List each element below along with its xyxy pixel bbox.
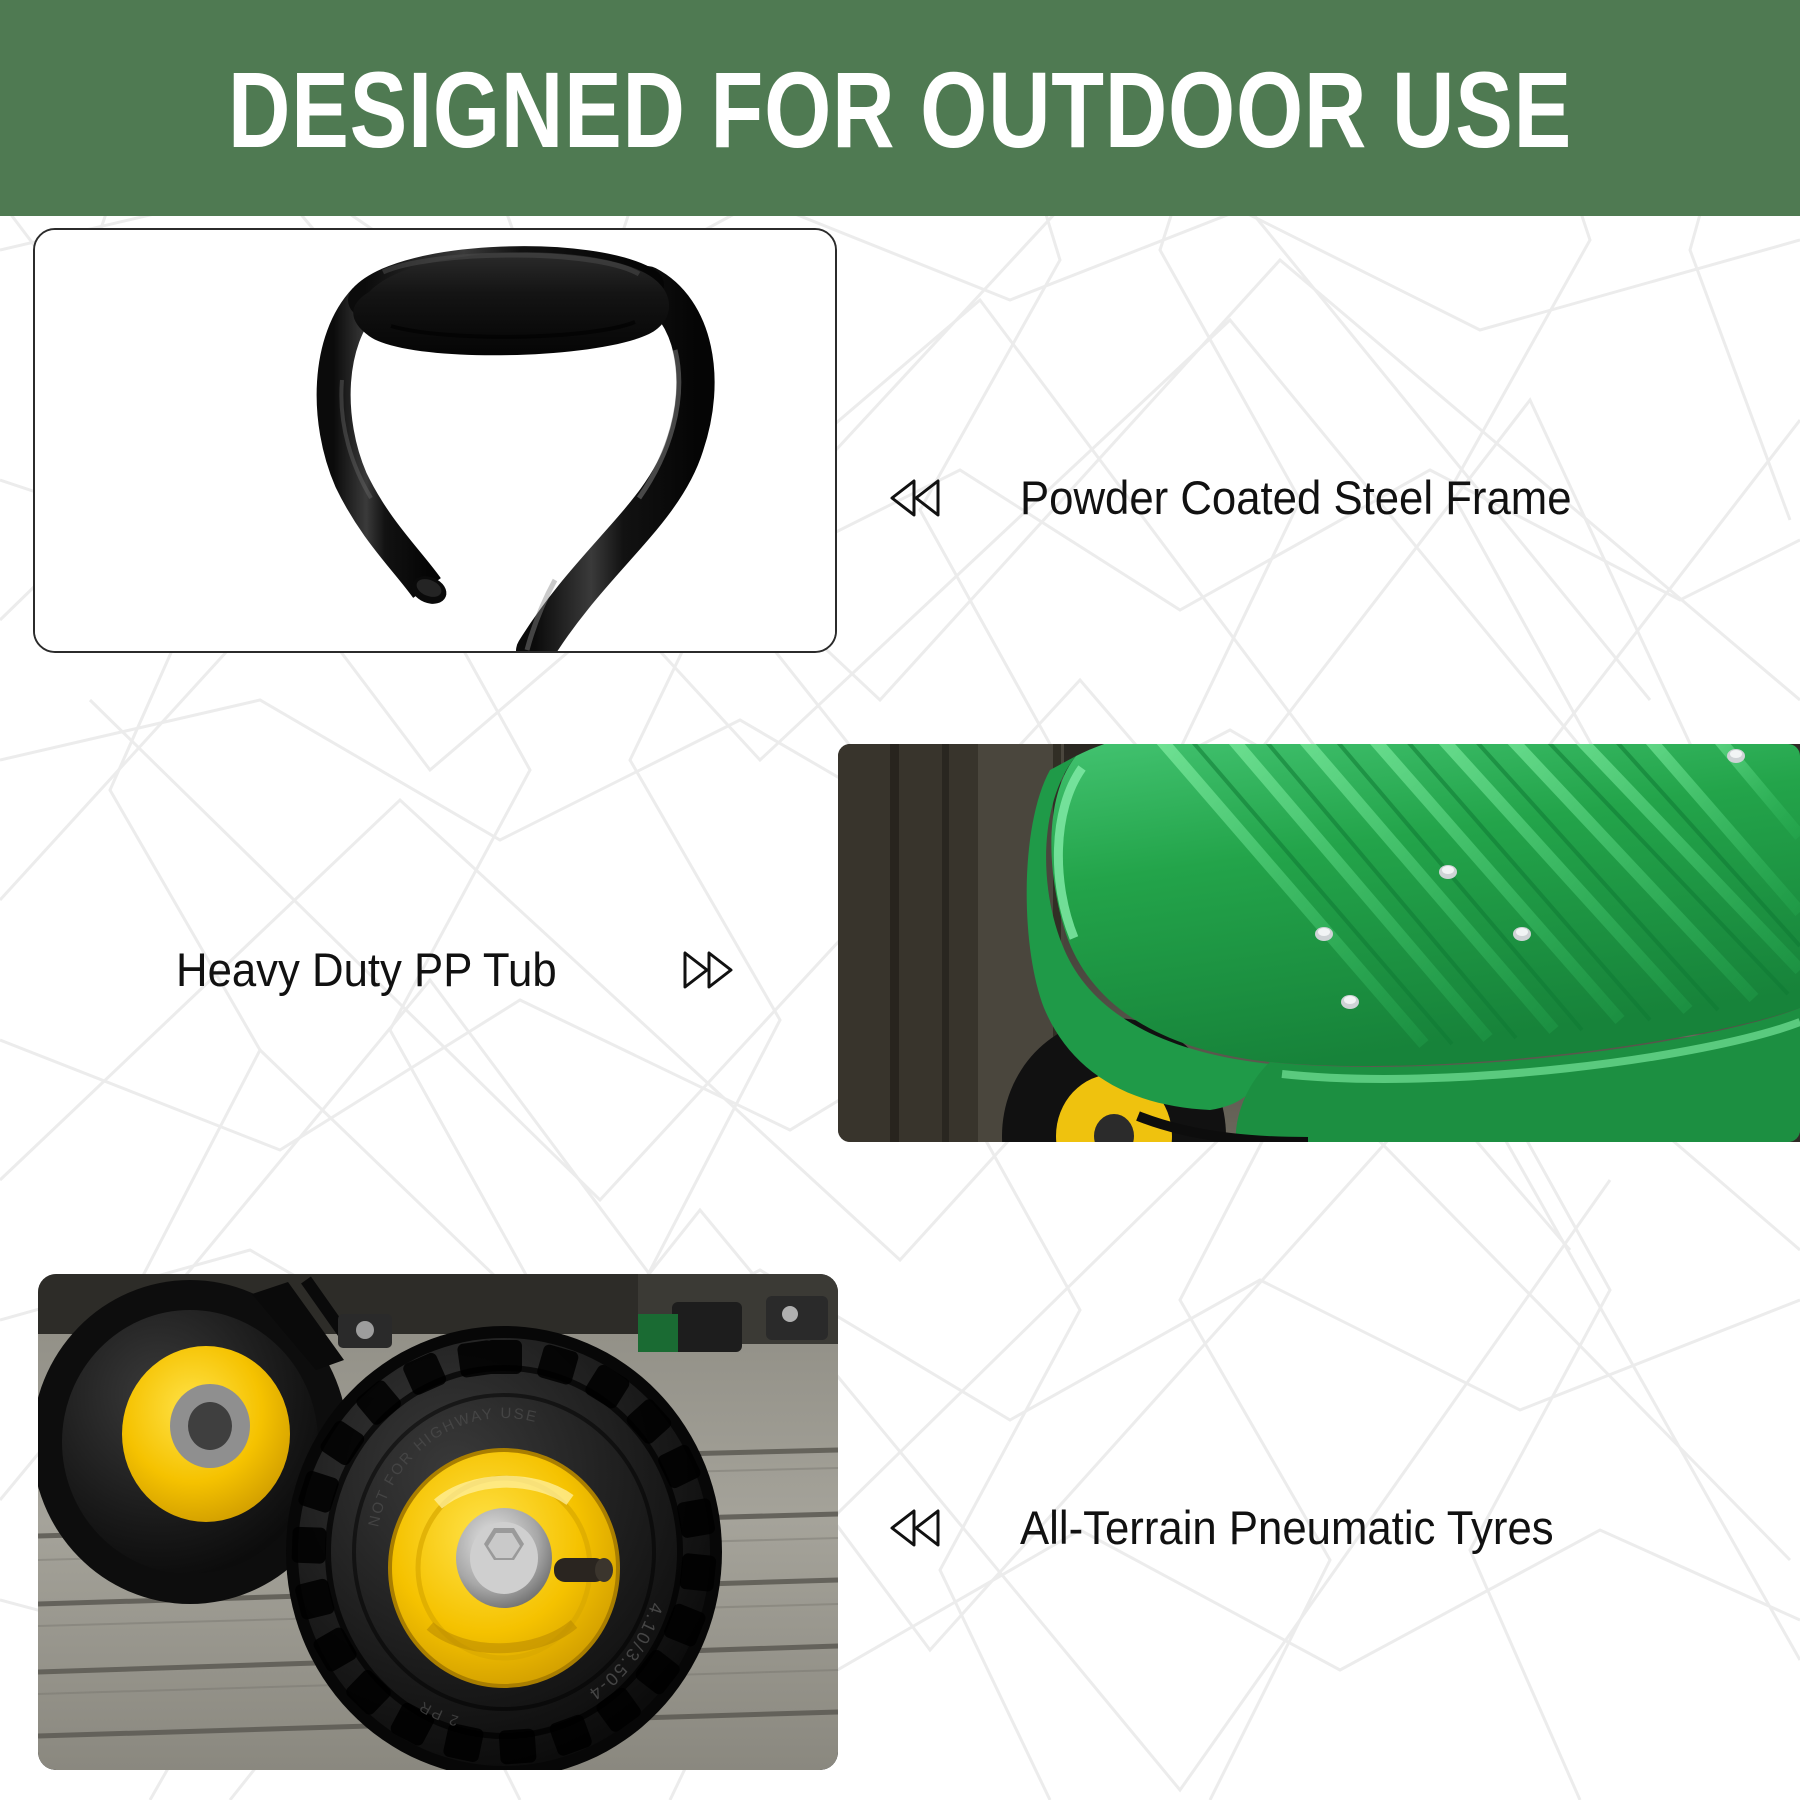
double-chevron-right-icon	[681, 949, 735, 991]
tub-photo-illustration	[838, 744, 1800, 1142]
page-title: DESIGNED FOR OUTDOOR USE	[228, 56, 1572, 164]
handle-photo	[33, 228, 837, 653]
callout-label-heavy-duty-pp-tub: Heavy Duty PP Tub	[176, 942, 557, 997]
callout-heavy-duty-pp-tub: Heavy Duty PP Tub	[176, 942, 735, 997]
callout-label-powder-coated-steel-frame: Powder Coated Steel Frame	[1020, 470, 1572, 525]
tyres-photo-illustration: NOT FOR HIGHWAY USE 4.10/3.50-4 2 PR	[38, 1274, 838, 1770]
callout-powder-coated-steel-frame: Powder Coated Steel Frame	[888, 470, 1613, 525]
tyres-photo: NOT FOR HIGHWAY USE 4.10/3.50-4 2 PR	[38, 1274, 838, 1770]
double-chevron-left-icon	[888, 1507, 942, 1549]
product-feature-infographic: DESIGNED FOR OUTDOOR USE	[0, 0, 1800, 1800]
callout-label-all-terrain-pneumatic-tyres: All-Terrain Pneumatic Tyres	[1020, 1500, 1554, 1555]
tub-photo	[838, 744, 1800, 1142]
callout-all-terrain-pneumatic-tyres: All-Terrain Pneumatic Tyres	[888, 1500, 1594, 1555]
double-chevron-left-icon	[888, 477, 942, 519]
header-banner: DESIGNED FOR OUTDOOR USE	[0, 0, 1800, 216]
handle-photo-illustration	[35, 230, 835, 651]
